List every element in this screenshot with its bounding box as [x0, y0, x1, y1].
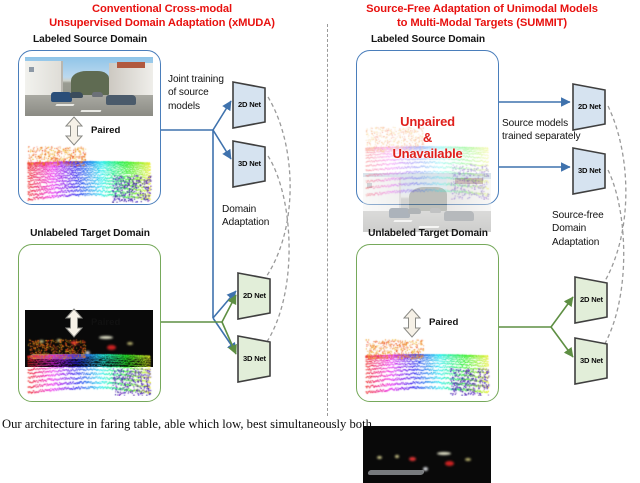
- paired-double-arrow-icon: [63, 116, 85, 146]
- source-free-line3: Adaptation: [552, 236, 636, 249]
- domain-adaptation-line1: Domain: [222, 203, 294, 216]
- right-target-camera-image: [363, 426, 491, 483]
- net-label-right-source-2d: 2D Net: [578, 102, 601, 111]
- panel-title-left: Conventional Cross-modal Unsupervised Do…: [6, 3, 318, 30]
- left-domain-adaptation-label: Domain Adaptation: [222, 203, 294, 230]
- net-label-right-source-3d: 3D Net: [578, 166, 601, 175]
- right-source-unavailable-overlay: Unpaired & Unavailable: [356, 114, 499, 162]
- source-free-line2: Domain: [552, 222, 636, 235]
- panel-title-right: Source-Free Adaptation of Unimodal Model…: [326, 3, 638, 30]
- panel-title-left-line1: Conventional Cross-modal: [6, 3, 318, 17]
- joint-training-line3: models: [168, 100, 234, 113]
- right-source-free-adaptation-label: Source-free Domain Adaptation: [552, 209, 636, 249]
- panel-divider: [327, 24, 328, 416]
- figure-caption: Our architecture in faring table, able w…: [2, 417, 638, 432]
- net-shapes-left: [233, 82, 270, 382]
- panel-title-left-line2: Unsupervised Domain Adaptation (xMUDA): [6, 17, 318, 31]
- left-target-domain-label: Unlabeled Target Domain: [10, 228, 170, 239]
- left-source-point-cloud: [25, 145, 153, 203]
- domain-adaptation-line2: Adaptation: [222, 216, 294, 229]
- panel-title-right-line1: Source-Free Adaptation of Unimodal Model…: [326, 3, 638, 17]
- left-target-point-cloud: [25, 338, 153, 396]
- source-models-line2: trained separately: [502, 130, 598, 143]
- source-models-line1: Source models: [502, 117, 598, 130]
- right-target-domain-label: Unlabeled Target Domain: [348, 228, 508, 239]
- source-free-line1: Source-free: [552, 209, 636, 222]
- left-source-to-target-nets-arrows: [213, 130, 236, 352]
- net-label-left-target-3d: 3D Net: [243, 354, 266, 363]
- right-target-to-nets-arrows: [499, 297, 573, 357]
- left-target-paired-label: Paired: [91, 317, 120, 328]
- right-source-domain-label: Labeled Source Domain: [348, 34, 508, 45]
- left-source-paired-label: Paired: [91, 125, 120, 136]
- net-label-right-target-2d: 2D Net: [580, 295, 603, 304]
- paired-double-arrow-icon: [63, 308, 85, 338]
- left-target-to-nets-arrows: [161, 295, 236, 354]
- left-source-camera-image: [25, 57, 153, 116]
- overlay-line-ampersand: &: [356, 130, 499, 146]
- overlay-line-unavailable: Unavailable: [356, 146, 499, 162]
- overlay-line-unpaired: Unpaired: [356, 114, 499, 130]
- right-target-paired-label: Paired: [429, 317, 458, 328]
- left-source-paired-group: Paired: [25, 116, 153, 146]
- right-source-models-label: Source models trained separately: [502, 117, 598, 144]
- panel-title-right-line2: to Multi-Modal Targets (SUMMIT): [326, 17, 638, 31]
- left-source-domain-label: Labeled Source Domain: [10, 34, 170, 45]
- net-label-left-target-2d: 2D Net: [243, 291, 266, 300]
- net-label-left-source-2d: 2D Net: [238, 100, 261, 109]
- figure-root: Conventional Cross-modal Unsupervised Do…: [0, 0, 640, 429]
- joint-training-line2: of source: [168, 86, 234, 99]
- paired-double-arrow-icon: [401, 308, 423, 338]
- left-joint-training-label: Joint training of source models: [168, 73, 234, 113]
- net-label-right-target-3d: 3D Net: [580, 356, 603, 365]
- joint-training-line1: Joint training: [168, 73, 234, 86]
- right-target-point-cloud: [363, 338, 491, 396]
- right-target-paired-group: Paired: [363, 308, 491, 338]
- net-label-left-source-3d: 3D Net: [238, 159, 261, 168]
- left-target-paired-group: Paired: [25, 308, 153, 338]
